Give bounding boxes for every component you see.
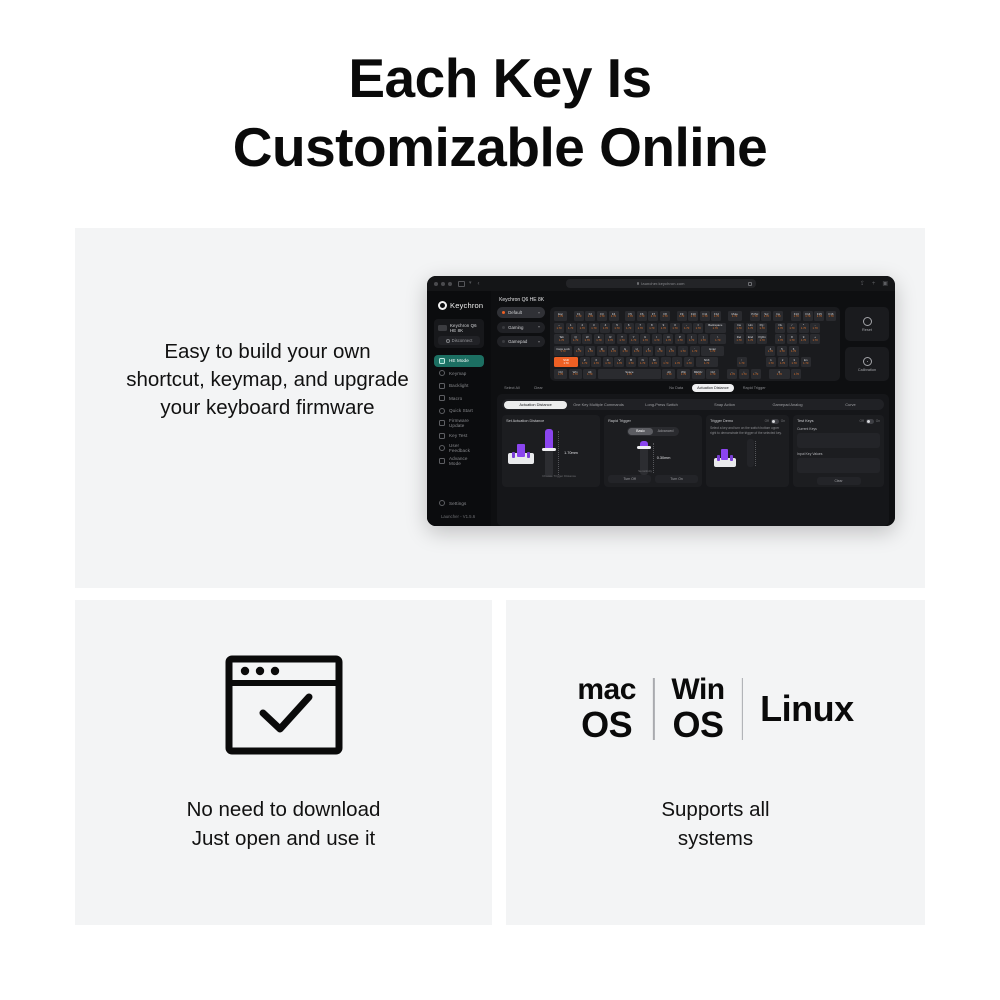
keyboard-key[interactable]: W1.70	[582, 334, 592, 344]
key-value: 1.70	[560, 351, 565, 354]
keyboard-key[interactable]: Scr1.70	[761, 311, 771, 321]
key-value: 1.70	[628, 316, 633, 319]
keyboard-spacer	[727, 323, 732, 333]
keyboard-key[interactable]: ~1.70	[554, 323, 564, 333]
keyboard-key[interactable]: 11.70	[766, 357, 776, 367]
marketing-page: Each Key Is Customizable Online Easy to …	[0, 0, 1000, 1000]
keyboard-key[interactable]: PgDn1.70	[757, 334, 767, 344]
rapid-trigger-mode-segment[interactable]: BasicAdvanced	[627, 427, 679, 436]
chevron-down-icon[interactable]: ▾	[469, 281, 472, 286]
feature-card-supports-all-systems: macOSWinOSLinux Supports all systems	[506, 600, 925, 925]
keymap-icon	[439, 370, 445, 376]
keyboard-key[interactable]: H1.70	[632, 346, 642, 356]
keyboard-key[interactable]: 41.70	[765, 346, 775, 356]
key-value: 1.70	[710, 374, 715, 377]
key-value: 1.70	[662, 316, 667, 319]
chevron-down-icon[interactable]: ▾	[538, 311, 540, 315]
button-label: Reset	[862, 328, 872, 332]
launcher-main: Keychron Q6 HE 8K Default▾Gaming▾Gamepad…	[491, 291, 895, 526]
os-name-bottom: OS	[671, 706, 724, 744]
key-value: 1.70	[817, 316, 822, 319]
keyboard-key[interactable]: Hm1.70	[746, 323, 756, 333]
key-value: 1.70	[792, 363, 797, 366]
keyboard-spacer	[762, 369, 767, 379]
actuation-footnote: Choose Trigger Distance	[542, 474, 576, 478]
keyboard-layout-panel[interactable]: Esc1.70F11.70F21.70F31.70F41.70F51.70F61…	[550, 307, 840, 381]
sidebar-item-backlight[interactable]: Backlight	[434, 380, 484, 392]
calibration-button[interactable]: Calibration	[845, 347, 889, 381]
keyboard-key[interactable]: F11.70	[574, 311, 584, 321]
os-name: Linux	[760, 674, 854, 744]
keyboard-key[interactable]: /1.70	[787, 323, 797, 333]
keyboard-key[interactable]: F161.70	[826, 311, 836, 321]
sidebar-item-label: Settings	[449, 501, 466, 506]
keyboard-key[interactable]: 11.70	[566, 323, 576, 333]
keyboard-key[interactable]: ↓1.70	[739, 369, 749, 379]
keyboard-key[interactable]: 81.70	[647, 323, 657, 333]
disconnect-label: Disconnect	[452, 338, 473, 343]
tab-one-key-multiple-commands[interactable]: One Key Multiple Commands	[567, 401, 630, 409]
keyboard-key[interactable]: ←1.70	[727, 369, 737, 379]
profile-label: Gamepad	[508, 339, 527, 344]
keyboard-key[interactable]: /1.70	[684, 357, 694, 367]
keyboard-key[interactable]: '1.70	[690, 346, 700, 356]
keyboard-key[interactable]: Esc1.70	[554, 311, 567, 321]
keyboard-key[interactable]: Win1.70	[569, 369, 582, 379]
keyboard-key[interactable]: F91.70	[677, 311, 687, 321]
keyboard-row: ~1.7011.7021.7031.7041.7051.7061.7071.70…	[554, 323, 836, 333]
key-value: 1.70	[730, 374, 735, 377]
keyboard-key[interactable]: 31.70	[589, 323, 599, 333]
key-value: 1.70	[760, 328, 765, 331]
key-value: 1.70	[696, 328, 701, 331]
key-value: 1.70	[805, 316, 810, 319]
sidebar-item-user-feedback[interactable]: User Feedback	[434, 443, 484, 455]
keyboard-key[interactable]: Shift1.70	[554, 357, 578, 367]
keyboard-key[interactable]: End1.70	[746, 334, 756, 344]
keyboard-row: Ctrl1.70Win1.70Alt1.70Space1.70Alt1.70Wi…	[554, 369, 836, 379]
sidebar-item-label: Keymap	[449, 371, 466, 376]
sidebar-item-firmware-update[interactable]: Firmware Update	[434, 418, 484, 430]
keyboard-key[interactable]: 81.70	[787, 334, 797, 344]
key-value: 1.70	[573, 340, 578, 343]
keyboard-key[interactable]: X1.70	[591, 357, 601, 367]
sidebar-item-label: Backlight	[449, 383, 469, 388]
keyboard-key[interactable]: F51.70	[625, 311, 635, 321]
keyboard-key[interactable]: D1.70	[597, 346, 607, 356]
calibration-target-icon	[863, 357, 872, 366]
keyboard-key[interactable]: F81.70	[660, 311, 670, 321]
keyboard-key[interactable]: Caps Lock1.70	[554, 346, 572, 356]
keyboard-key[interactable]: PrtSc1.70	[750, 311, 760, 321]
sidebar-item-keymap[interactable]: Keymap	[434, 368, 484, 380]
backlight-icon	[439, 383, 445, 389]
key-value: 1.70	[675, 363, 680, 366]
key-value: 1.70	[661, 328, 666, 331]
key-value: 1.70	[666, 340, 671, 343]
key-value: 1.70	[573, 374, 578, 377]
key-value: 1.70	[588, 316, 593, 319]
keyboard-key[interactable]: 71.70	[635, 323, 645, 333]
key-value: 1.70	[801, 340, 806, 343]
keyboard-key[interactable]: =1.70	[693, 323, 703, 333]
key-value: 1.70	[614, 328, 619, 331]
toggle-on-label: On	[876, 419, 880, 423]
keyboard-key[interactable]: Del1.70	[734, 334, 744, 344]
key-value: 1.70	[778, 340, 783, 343]
toggle-on-label: On	[781, 419, 785, 423]
tabs-overview-icon[interactable]: ▣	[882, 281, 888, 287]
keyboard-key[interactable]: Ctrl1.70	[554, 369, 567, 379]
sidebar-item-label: Key Test	[449, 433, 467, 438]
chevron-down-icon[interactable]: ▾	[538, 340, 540, 344]
tab-curve[interactable]: Curve	[819, 401, 882, 409]
keyboard-key[interactable]: Alt1.70	[583, 369, 596, 379]
test-keys-toggle[interactable]: Off On	[860, 419, 880, 424]
tab-gamepad-analog[interactable]: Gamepad Analog	[756, 401, 819, 409]
sidebar-item-macro[interactable]: Macro	[434, 393, 484, 405]
device-box: Keychron Q6 HE 8K Disconnect	[434, 319, 484, 348]
main-page-title: Keychron Q6 HE 8K	[499, 297, 889, 303]
keyboard-key[interactable]: F101.70	[688, 311, 698, 321]
key-value: 1.70	[714, 316, 719, 319]
supports-all-systems-caption: Supports all systems	[506, 795, 925, 853]
rapid-trigger-value: 0.30mm	[657, 456, 671, 460]
sidebar-item-advance-mode[interactable]: Advance Mode	[434, 455, 484, 467]
keyboard-spacer	[723, 311, 726, 321]
launcher-sidebar: Keychron Keychron Q6 HE 8K Disconnect HE…	[427, 291, 491, 526]
rapid-trigger-turn-off-button[interactable]: Turn Off	[608, 475, 651, 483]
keyboard-key[interactable]: K1.70	[655, 346, 665, 356]
keyboard-key[interactable]: 21.70	[577, 323, 587, 333]
key-value: 1.70	[638, 328, 643, 331]
browser-url-bar[interactable]: launcher.keychron.com	[566, 279, 756, 288]
sidebar-item-label: HE Mode	[449, 358, 469, 363]
key-value: 1.70	[594, 363, 599, 366]
switch-illustration-icon	[714, 448, 736, 467]
lock-icon	[637, 282, 639, 285]
sidebar-item-key-test[interactable]: Key Test	[434, 430, 484, 442]
keyboard-key[interactable]: F151.70	[814, 311, 824, 321]
profile-gaming[interactable]: Gaming▾	[497, 322, 545, 333]
trigger-demo-toggle[interactable]: Off On	[765, 419, 785, 424]
key-value: 1.70	[715, 340, 720, 343]
key-value: 1.70	[828, 316, 833, 319]
keyboard-key[interactable]: S1.70	[585, 346, 595, 356]
sidebar-item-label: Macro	[449, 396, 462, 401]
tab-snap-action[interactable]: Snap Action	[693, 401, 756, 409]
key-value: 1.70	[622, 351, 627, 354]
key-value: 1.70	[778, 328, 783, 331]
toggle-off-label: Off	[860, 419, 864, 423]
key-value: 1.70	[608, 340, 613, 343]
keyboard-key[interactable]: Enter1.70	[701, 346, 724, 356]
keyboard-key[interactable]: 61.70	[789, 346, 799, 356]
keyboard-key[interactable]: A1.70	[574, 346, 584, 356]
key-value: 1.70	[748, 328, 753, 331]
keyboard-key[interactable]: P1.70	[675, 334, 685, 344]
keyboard-key[interactable]: I1.70	[652, 334, 662, 344]
sidebar-item-label: Quick Start	[449, 408, 473, 413]
key-value: 1.70	[663, 363, 668, 366]
mid-controls: Select All Clear No Data Actuation Dista…	[497, 381, 889, 394]
keyboard-key[interactable]: Alt1.70	[662, 369, 675, 379]
keyboard-key[interactable]: 91.70	[799, 334, 809, 344]
key-value: 1.70	[710, 351, 715, 354]
keyboard-key[interactable]: F71.70	[648, 311, 658, 321]
keyboard-key[interactable]: Shift1.70	[696, 357, 718, 367]
browser-window-check-icon	[225, 655, 343, 760]
keyboard-key[interactable]: E1.70	[594, 334, 604, 344]
keyboard-key[interactable]: Backspace1.70	[705, 323, 726, 333]
keyboard-key[interactable]: .1.70	[672, 357, 682, 367]
os-divider	[742, 678, 744, 740]
keyboard-row: Esc1.70F11.70F21.70F31.70F41.70F51.70F61…	[554, 311, 836, 321]
keyboard-key[interactable]: Space1.70	[598, 369, 661, 379]
disconnect-button[interactable]: Disconnect	[438, 336, 480, 345]
share-icon[interactable]: ⇪	[860, 281, 865, 287]
panel-title: Rapid Trigger	[608, 419, 698, 423]
key-value: 1.70	[640, 363, 645, 366]
keyboard-key[interactable]: F121.70	[711, 311, 721, 321]
profile-list: Default▾Gaming▾Gamepad▾	[497, 307, 545, 381]
keyboard-key[interactable]: ;1.70	[678, 346, 688, 356]
toggle-switch[interactable]	[866, 419, 874, 424]
os-mac: macOS	[577, 674, 636, 744]
keyboard-key[interactable]: 91.70	[658, 323, 668, 333]
keyboard-key[interactable]: -1.70	[682, 323, 692, 333]
reset-icon	[863, 317, 872, 326]
keyboard-key[interactable]: B1.70	[626, 357, 636, 367]
key-value: 1.70	[558, 316, 563, 319]
keyboard-key[interactable]: Z1.70	[580, 357, 590, 367]
profile-label: Gaming	[508, 325, 523, 330]
keyboard-key[interactable]: 51.70	[612, 323, 622, 333]
keyboard-key[interactable]: L1.70	[666, 346, 676, 356]
sidebar-toggle-icon[interactable]	[458, 281, 465, 287]
key-value: 1.70	[677, 340, 682, 343]
traffic-lights[interactable]	[434, 282, 452, 286]
keyboard-key[interactable]: Ctrl1.70	[706, 369, 719, 379]
keyboard-key[interactable]: 01.70	[670, 323, 680, 333]
profile-default[interactable]: Default▾	[497, 307, 545, 318]
sidebar-item-quick-start[interactable]: Quick Start	[434, 405, 484, 417]
tab-long-press-switch[interactable]: Long-Press Switch	[630, 401, 693, 409]
keyboard-key[interactable]: R1.70	[605, 334, 615, 344]
keyboard-key[interactable]: 31.70	[789, 357, 799, 367]
key-value: 1.70	[680, 351, 685, 354]
rapid-trigger-buttons: Turn OffTurn On	[608, 475, 698, 483]
toggle-off-label: Off	[765, 419, 769, 423]
key-value: 1.70	[651, 316, 656, 319]
sidebar-item-label: User Feedback	[449, 443, 479, 453]
keyboard-key[interactable]: Tab1.70	[554, 334, 569, 344]
keyboard-key[interactable]: *1.70	[799, 323, 809, 333]
keyboard-spacer	[569, 311, 573, 321]
keyboard-spacer	[769, 334, 774, 344]
keyboard-key[interactable]: Mute1.70	[728, 311, 742, 321]
rapid-trigger-turn-on-button[interactable]: Turn On	[655, 475, 698, 483]
key-value: 1.70	[580, 328, 585, 331]
refresh-icon[interactable]	[748, 282, 752, 286]
keyboard-key[interactable]: V1.70	[614, 357, 624, 367]
macro-icon	[439, 395, 445, 401]
clear-button[interactable]: Clear	[529, 384, 548, 392]
keyboard-key[interactable]: Y1.70	[629, 334, 639, 344]
url-text: launcher.keychron.com	[641, 281, 684, 286]
keyboard-key[interactable]: F1.70	[608, 346, 618, 356]
key-value: 1.70	[611, 351, 616, 354]
keyboard-spacer	[620, 311, 624, 321]
caption-line-1: Supports all	[506, 795, 925, 824]
keyboard-spacer	[726, 346, 764, 356]
back-arrow-icon[interactable]: ‹	[478, 281, 480, 287]
tab-actuation-distance[interactable]: Actuation Distance	[504, 401, 567, 409]
caption-line-1: No need to download	[75, 795, 492, 824]
actuation-distance-button[interactable]: Actuation Distance	[692, 384, 734, 392]
keyboard-key[interactable]: F111.70	[700, 311, 710, 321]
sidebar-item-he-mode[interactable]: HE Mode	[434, 355, 484, 367]
key-value: 1.70	[768, 351, 773, 354]
key-value: 1.70	[611, 316, 616, 319]
no-data-button[interactable]: No Data	[664, 384, 688, 392]
reset-button[interactable]: Reset	[845, 307, 889, 341]
key-value: 1.70	[689, 340, 694, 343]
keyboard-key[interactable]: 21.70	[778, 357, 788, 367]
test-keys-clear-button[interactable]: Clear	[817, 477, 861, 485]
keyboard-key[interactable]: ,1.70	[661, 357, 671, 367]
keyboard-spacer	[727, 334, 732, 344]
key-value: 1.70	[794, 316, 799, 319]
rt-mode-basic[interactable]: Basic	[628, 428, 653, 435]
key-value: 1.70	[654, 340, 659, 343]
keyboard-key[interactable]: C1.70	[603, 357, 613, 367]
advance-mode-icon	[439, 458, 445, 464]
keyboard-key[interactable]: [1.70	[687, 334, 697, 344]
key-value: 1.70	[599, 316, 604, 319]
key-value: 1.70	[585, 340, 590, 343]
keyboard-key[interactable]: \1.70	[710, 334, 726, 344]
key-value: 1.70	[764, 316, 769, 319]
top-row: Default▾Gaming▾Gamepad▾ Esc1.70F11.70F21…	[497, 307, 889, 381]
keyboard-key[interactable]: MENU1.70	[692, 369, 705, 379]
profile-gamepad[interactable]: Gamepad▾	[497, 336, 545, 347]
current-keys-field[interactable]	[797, 433, 880, 448]
browser-toolbar-right: ⇪ + ▣	[860, 281, 888, 287]
keyboard-key[interactable]: 51.70	[777, 346, 787, 356]
browser-titlebar: ▾ ‹ launcher.keychron.com ⇪ + ▣	[427, 276, 895, 291]
keyboard-key[interactable]: Q1.70	[571, 334, 581, 344]
keyboard-key[interactable]: M1.70	[649, 357, 659, 367]
keyboard-key[interactable]: -1.70	[810, 323, 820, 333]
os-divider	[653, 678, 655, 740]
key-value: 1.70	[741, 374, 746, 377]
key-value: 1.70	[713, 328, 718, 331]
actuation-slider[interactable]	[541, 429, 557, 477]
key-value: 1.70	[587, 374, 592, 377]
keyboard-key[interactable]: 01.70	[769, 369, 790, 379]
keyboard-key[interactable]: 41.70	[600, 323, 610, 333]
keyboard-key[interactable]: N1.70	[638, 357, 648, 367]
disconnect-icon	[446, 339, 450, 343]
keyboard-key[interactable]: F31.70	[597, 311, 607, 321]
key-value: 1.70	[813, 328, 818, 331]
key-value: 1.70	[559, 340, 564, 343]
key-value: 1.70	[768, 363, 773, 366]
launcher-description: Easy to build your own shortcut, keymap,…	[125, 338, 410, 422]
keyboard-key[interactable]: F61.70	[637, 311, 647, 321]
keychron-launcher-screenshot: ▾ ‹ launcher.keychron.com ⇪ + ▣	[427, 276, 895, 526]
new-tab-icon[interactable]: +	[872, 281, 876, 287]
keyboard-key[interactable]: G1.70	[620, 346, 630, 356]
os-name-top: mac	[577, 674, 636, 706]
keyboard-key[interactable]: +1.70	[810, 334, 820, 344]
keyboard-spacer	[748, 357, 764, 367]
toggle-switch[interactable]	[771, 419, 779, 424]
keyboard-key[interactable]: 71.70	[775, 334, 785, 344]
keyboard-key[interactable]: F141.70	[803, 311, 813, 321]
key-value: 1.70	[657, 351, 662, 354]
keyboard-key[interactable]: Ins1.70	[734, 323, 744, 333]
key-value: 1.70	[736, 328, 741, 331]
page-title: Each Key Is Customizable Online	[0, 44, 1000, 182]
keyboard-key[interactable]: Pg↑1.70	[757, 323, 767, 333]
keyboard-key[interactable]: J1.70	[643, 346, 653, 356]
input-key-values-field[interactable]	[797, 458, 880, 473]
keyboard-key[interactable]: NL1.70	[775, 323, 785, 333]
key-value: 1.70	[679, 316, 684, 319]
keyboard-row: Tab1.70Q1.70W1.70E1.70R1.70T1.70Y1.70U1.…	[554, 334, 836, 344]
keyboard-key[interactable]: F131.70	[791, 311, 801, 321]
sidebar-item-settings[interactable]: Settings	[434, 498, 484, 510]
key-value: 1.70	[748, 340, 753, 343]
keyboard-key[interactable]: Ins1.70	[773, 311, 783, 321]
keyboard-row: Caps Lock1.70A1.70S1.70D1.70F1.70G1.70H1…	[554, 346, 836, 356]
keyboard-key[interactable]: Win1.70	[677, 369, 690, 379]
no-download-caption: No need to download Just open and use it	[75, 795, 492, 853]
caption-line-2: Just open and use it	[75, 824, 492, 853]
rapid-trigger-button[interactable]: Rapid Trigger	[738, 384, 771, 392]
gear-icon	[439, 500, 445, 506]
he-mode-icon	[439, 358, 445, 364]
key-value: 1.70	[588, 351, 593, 354]
key-value: 1.70	[753, 374, 758, 377]
os-logo-row: macOSWinOSLinux	[577, 674, 853, 744]
key-value: 1.70	[626, 328, 631, 331]
keyboard-spacer	[719, 357, 735, 367]
keyboard-key[interactable]: T1.70	[617, 334, 627, 344]
keyboard-key[interactable]: F21.70	[585, 311, 595, 321]
keyboard-key[interactable]: ↑1.70	[737, 357, 747, 367]
keyboard-key[interactable]: O1.70	[663, 334, 673, 344]
chevron-down-icon[interactable]: ▾	[538, 325, 540, 329]
feature-card-no-download: No need to download Just open and use it	[75, 600, 492, 925]
rt-mode-advanced[interactable]: Advanced	[653, 428, 678, 435]
keyboard-spacer	[721, 369, 726, 379]
switch-illustration-icon	[508, 442, 534, 464]
keyboard-key[interactable]: F41.70	[609, 311, 619, 321]
keyboard-key[interactable]: 61.70	[624, 323, 634, 333]
select-all-button[interactable]: Select All	[499, 384, 525, 392]
key-value: 1.70	[813, 340, 818, 343]
keyboard-key[interactable]: .1.70	[791, 369, 801, 379]
keyboard-key[interactable]: En1.70	[801, 357, 811, 367]
keyboard-key[interactable]: U1.70	[640, 334, 650, 344]
keyboard-key[interactable]: ]1.70	[698, 334, 708, 344]
keyboard-key[interactable]: →1.70	[751, 369, 761, 379]
feature-card-launcher: Easy to build your own shortcut, keymap,…	[75, 228, 925, 588]
rapid-trigger-sub: Sensitivity	[638, 469, 652, 473]
